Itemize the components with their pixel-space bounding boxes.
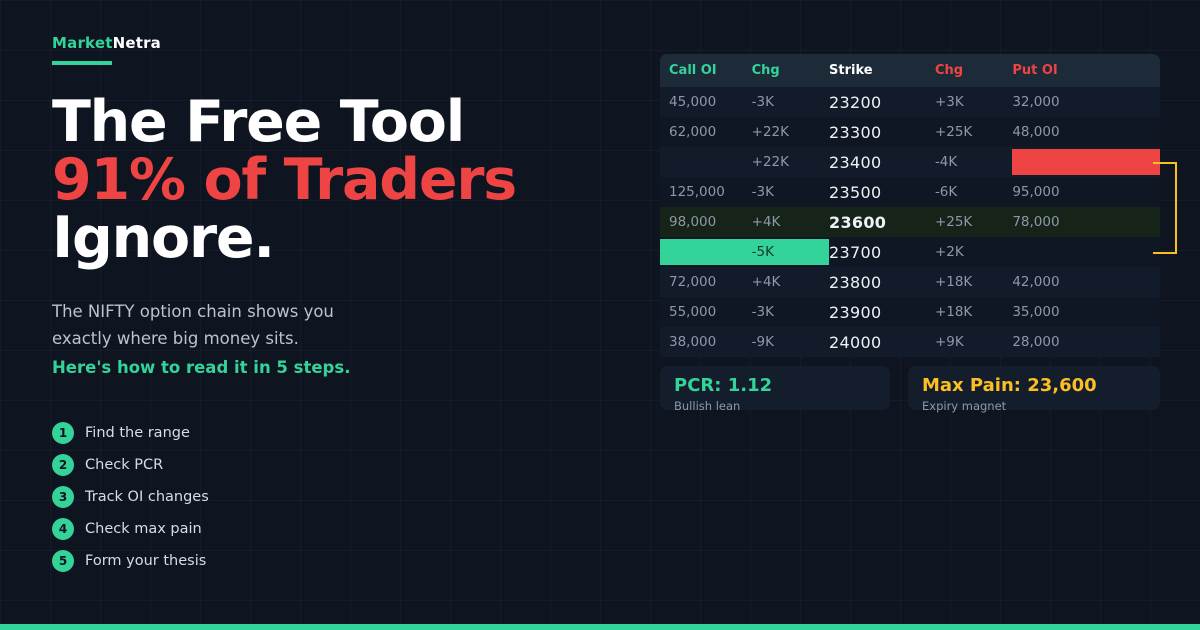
table-row[interactable]: 55,000 -3K 23900 +18K 35,000 [660, 297, 1160, 327]
column-header-put-oi[interactable]: Put OI [1012, 54, 1160, 87]
step-label: Check PCR [85, 457, 163, 473]
table-row[interactable]: -5K 23700 +2K [660, 237, 1160, 267]
cell-put-oi: 95,000 [1012, 177, 1160, 207]
cell-call-oi [660, 147, 752, 177]
cell-put-chg: +25K [935, 117, 1012, 147]
step-number-badge: 4 [52, 518, 74, 540]
cell-call-chg: -9K [752, 327, 829, 357]
subtitle-block: The NIFTY option chain shows you exactly… [52, 299, 612, 381]
cell-call-oi: 38,000 [660, 327, 752, 357]
step-label: Track OI changes [85, 489, 209, 505]
cell-put-chg: +18K [935, 297, 1012, 327]
step-label: Find the range [85, 425, 190, 441]
step-number-badge: 3 [52, 486, 74, 508]
cell-put-oi: 32,000 [1012, 87, 1160, 117]
cell-call-chg: -3K [752, 297, 829, 327]
column-header-strike[interactable]: Strike [829, 54, 935, 87]
option-chain-table: Call OI Chg Strike Chg Put OI 45,000 -3K… [660, 54, 1160, 357]
cell-put-oi: 48,000 [1012, 117, 1160, 147]
subtitle-line-2: exactly where big money sits. [52, 329, 299, 348]
cell-strike: 23600 [829, 207, 935, 237]
cell-call-oi: 62,000 [660, 117, 752, 147]
cell-strike: 23400 [829, 147, 935, 177]
cell-call-chg: -3K [752, 87, 829, 117]
list-item[interactable]: 2 Check PCR [52, 449, 612, 481]
brand-name-rest: Netra [113, 34, 161, 52]
cell-put-chg: +25K [935, 207, 1012, 237]
steps-list: 1 Find the range 2 Check PCR 3 Track OI … [52, 417, 612, 577]
table-header-row: Call OI Chg Strike Chg Put OI [660, 54, 1160, 87]
page-title: The Free Tool 91% of Traders Ignore. [52, 93, 612, 267]
cell-call-chg: -5K [752, 237, 829, 267]
cell-call-chg: +4K [752, 267, 829, 297]
cell-strike: 23800 [829, 267, 935, 297]
cell-call-oi: 45,000 [660, 87, 752, 117]
cell-strike: 23900 [829, 297, 935, 327]
stat-card-max-pain[interactable]: Max Pain: 23,600 Expiry magnet [908, 366, 1160, 410]
range-bracket-indicator [1153, 162, 1177, 254]
brand-name-accent: Market [52, 34, 113, 52]
step-label: Form your thesis [85, 553, 206, 569]
table-row[interactable]: 45,000 -3K 23200 +3K 32,000 [660, 87, 1160, 117]
table-row[interactable]: 38,000 -9K 24000 +9K 28,000 [660, 327, 1160, 357]
list-item[interactable]: 3 Track OI changes [52, 481, 612, 513]
cell-call-oi: 72,000 [660, 267, 752, 297]
bottom-accent-bar [0, 624, 1200, 630]
cell-put-oi [1012, 237, 1160, 267]
option-chain-panel: Call OI Chg Strike Chg Put OI 45,000 -3K… [660, 54, 1160, 357]
cell-put-chg: +2K [935, 237, 1012, 267]
cell-strike: 23300 [829, 117, 935, 147]
cell-put-oi: 78,000 [1012, 207, 1160, 237]
step-number-badge: 2 [52, 454, 74, 476]
cell-strike: 23700 [829, 237, 935, 267]
cell-put-oi: 28,000 [1012, 327, 1160, 357]
list-item[interactable]: 5 Form your thesis [52, 545, 612, 577]
table-body: 45,000 -3K 23200 +3K 32,000 62,000 +22K … [660, 87, 1160, 357]
cell-put-chg: +18K [935, 267, 1012, 297]
cell-put-chg: -6K [935, 177, 1012, 207]
cell-put-chg: +9K [935, 327, 1012, 357]
list-item[interactable]: 1 Find the range [52, 417, 612, 449]
table-row[interactable]: +22K 23400 -4K [660, 147, 1160, 177]
stat-cards-row: PCR: 1.12 Bullish lean Max Pain: 23,600 … [660, 366, 1160, 410]
stat-pcr-sub: Bullish lean [674, 399, 876, 413]
cell-call-oi: 125,000 [660, 177, 752, 207]
call-oi-highlight-bar-extend [662, 239, 829, 265]
headline-line-3: Ignore. [52, 209, 612, 267]
cell-put-chg: +3K [935, 87, 1012, 117]
cell-call-chg: +22K [752, 147, 829, 177]
stat-max-pain-sub: Expiry magnet [922, 399, 1146, 413]
table-header: Call OI Chg Strike Chg Put OI [660, 54, 1160, 87]
cell-strike: 24000 [829, 327, 935, 357]
column-header-call-oi[interactable]: Call OI [660, 54, 752, 87]
headline-line-2: 91% of Traders [52, 151, 612, 209]
table-row-atm-strike[interactable]: 98,000 +4K 23600 +25K 78,000 [660, 207, 1160, 237]
brand-logo[interactable]: MarketNetra [52, 34, 612, 52]
cell-call-chg-text: -5K [752, 244, 774, 260]
cell-put-chg: -4K [935, 147, 1012, 177]
column-header-put-chg[interactable]: Chg [935, 54, 1012, 87]
cell-call-chg: +22K [752, 117, 829, 147]
cell-strike: 23200 [829, 87, 935, 117]
table-row[interactable]: 72,000 +4K 23800 +18K 42,000 [660, 267, 1160, 297]
step-label: Check max pain [85, 521, 202, 537]
cell-call-oi: 55,000 [660, 297, 752, 327]
put-oi-highlight-bar [1012, 149, 1160, 175]
left-content-panel: MarketNetra The Free Tool 91% of Traders… [52, 34, 612, 577]
step-number-badge: 5 [52, 550, 74, 572]
cell-strike: 23500 [829, 177, 935, 207]
subtitle-line-1: The NIFTY option chain shows you [52, 302, 334, 321]
cell-call-chg: -3K [752, 177, 829, 207]
cell-put-oi-highlight-bar [1012, 147, 1160, 177]
brand-underline [52, 61, 112, 65]
cell-call-chg: +4K [752, 207, 829, 237]
table-row[interactable]: 125,000 -3K 23500 -6K 95,000 [660, 177, 1160, 207]
stat-pcr-value: PCR: 1.12 [674, 377, 876, 396]
list-item[interactable]: 4 Check max pain [52, 513, 612, 545]
stat-card-pcr[interactable]: PCR: 1.12 Bullish lean [660, 366, 890, 410]
subtitle-cta: Here's how to read it in 5 steps. [52, 355, 612, 382]
step-number-badge: 1 [52, 422, 74, 444]
stat-max-pain-value: Max Pain: 23,600 [922, 377, 1146, 396]
column-header-call-chg[interactable]: Chg [752, 54, 829, 87]
cell-put-oi: 35,000 [1012, 297, 1160, 327]
cell-put-oi: 42,000 [1012, 267, 1160, 297]
cell-call-oi: 98,000 [660, 207, 752, 237]
headline-line-1: The Free Tool [52, 93, 612, 151]
table-row[interactable]: 62,000 +22K 23300 +25K 48,000 [660, 117, 1160, 147]
